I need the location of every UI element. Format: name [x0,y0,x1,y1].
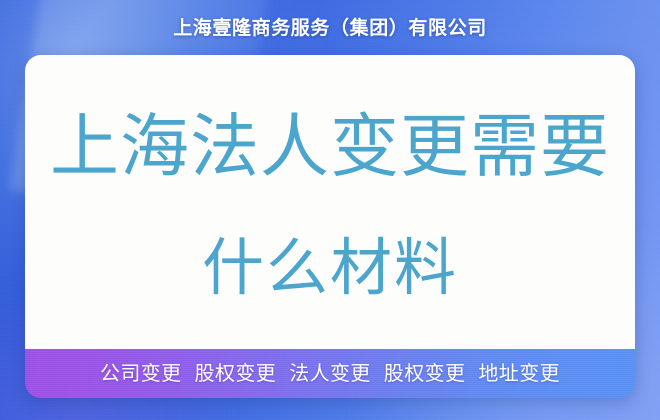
service-tag[interactable]: 地址变更 [478,362,560,386]
headline-area: 上海法人变更需要 什么材料 [25,55,635,349]
service-tag[interactable]: 公司变更 [100,362,182,386]
headline-line-2: 什么材料 [202,238,458,300]
service-tag[interactable]: 法人变更 [289,362,371,386]
service-tag-bar: 公司变更 股权变更 法人变更 股权变更 地址变更 [25,349,635,398]
service-tag[interactable]: 股权变更 [195,362,277,386]
headline-line-1: 上海法人变更需要 [50,112,610,181]
service-tag-list: 公司变更 股权变更 法人变更 股权变更 地址变更 [100,362,560,386]
service-tag[interactable]: 股权变更 [384,362,466,386]
company-name-label: 上海壹隆商务服务（集团）有限公司 [173,16,487,42]
poster-card: 上海法人变更需要 什么材料 公司变更 股权变更 法人变更 股权变更 地址变更 [25,55,635,398]
brand-header: 上海壹隆商务服务（集团）有限公司 [0,16,660,42]
